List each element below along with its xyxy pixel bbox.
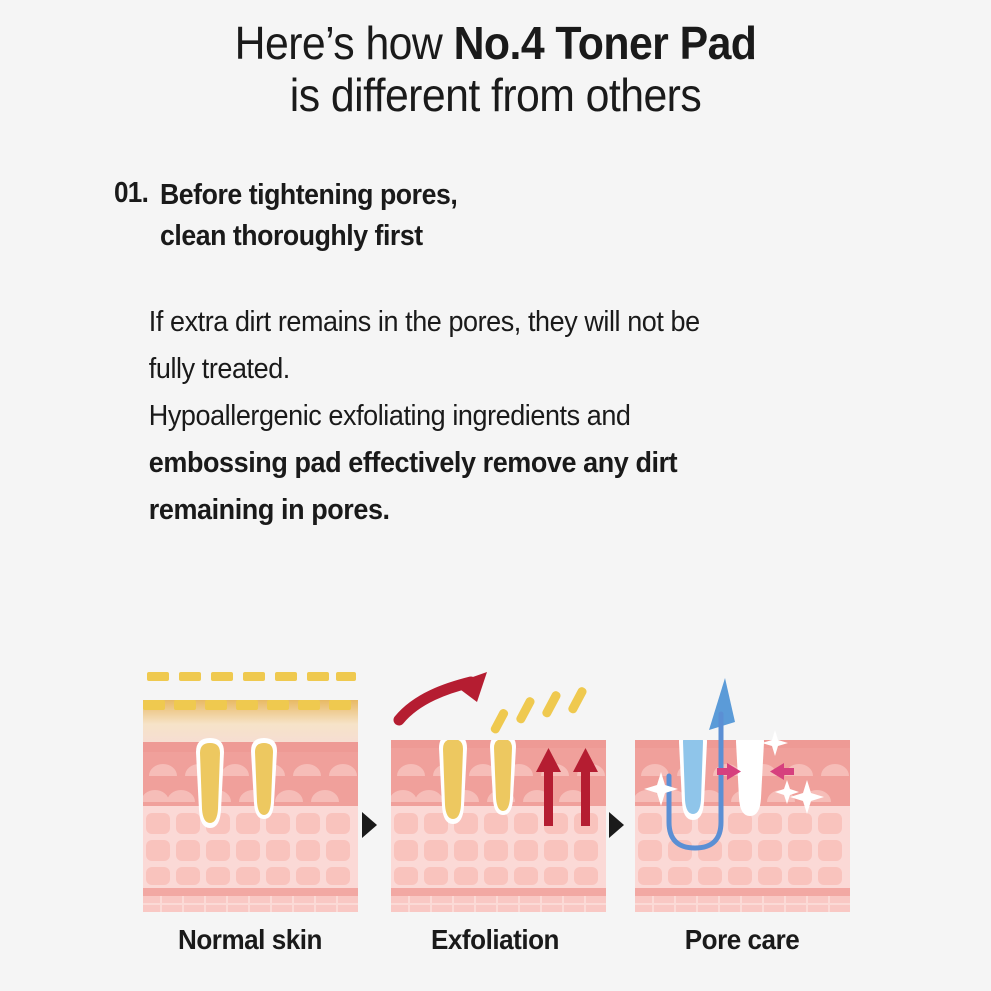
body-line-5: remaining in pores. (149, 487, 829, 534)
section-heading: 01. Before tightening pores, clean thoro… (0, 175, 991, 257)
body-line-4: embossing pad effectively remove any dir… (149, 440, 829, 487)
panel-caption-exfoliation: Exfoliation (374, 924, 616, 956)
subcutaneous-band (143, 888, 358, 896)
clogged-pore-right (251, 738, 277, 819)
skin-layers (391, 734, 606, 912)
title-line-1: Here’s how No.4 Toner Pad (35, 18, 957, 70)
body-line-3: Hypoallergenic exfoliating ingredients a… (149, 393, 829, 440)
lifted-dirt-flakes (489, 686, 588, 735)
section-number: 01. (114, 175, 148, 210)
diagram-panel-exfoliation (391, 672, 606, 917)
title-product-name: No.4 Toner Pad (454, 17, 757, 69)
diagram-panel-pore-care (635, 672, 850, 917)
exfoliation-illustration (391, 672, 606, 912)
section-heading-line-1: Before tightening pores, (160, 175, 457, 216)
step-separator-1 (362, 812, 377, 838)
title-line-2: is different from others (35, 70, 957, 122)
surface-dirt-dashes-top (147, 672, 356, 681)
skin-layers (143, 700, 358, 912)
title-plain-text: Here’s how (235, 17, 454, 69)
section-body: If extra dirt remains in the pores, they… (0, 299, 922, 534)
clogged-pore-left (439, 734, 467, 824)
normal-skin-illustration (143, 672, 358, 912)
step-separator-2 (609, 812, 624, 838)
hydrated-pore (679, 728, 707, 820)
surface-dirt-dashes-bottom (143, 700, 351, 710)
pore-care-illustration (635, 672, 850, 912)
subcutaneous-band (391, 888, 606, 896)
section-heading-line-2: clean thoroughly first (160, 216, 457, 257)
dermis-cells (146, 813, 350, 885)
exfoliation-sweep-arrow-icon (399, 672, 487, 720)
body-line-2: fully treated. (149, 346, 829, 393)
dermis-cells (394, 813, 598, 885)
skin-diagram: Normal skin Exfoliation Pore care (0, 672, 991, 991)
panel-caption-pore-care: Pore care (621, 924, 863, 956)
clean-pore (736, 728, 764, 816)
clogged-pore-left (196, 738, 224, 828)
body-line-1: If extra dirt remains in the pores, they… (149, 299, 829, 346)
epidermis-band (143, 742, 358, 752)
panel-caption-normal-skin: Normal skin (129, 924, 371, 956)
page-title: Here’s how No.4 Toner Pad is different f… (0, 0, 991, 121)
clogged-pore-right (490, 734, 516, 815)
subcutaneous-band (635, 888, 850, 896)
section-heading-text: Before tightening pores, clean thoroughl… (160, 175, 457, 257)
diagram-panel-normal-skin (143, 672, 358, 917)
